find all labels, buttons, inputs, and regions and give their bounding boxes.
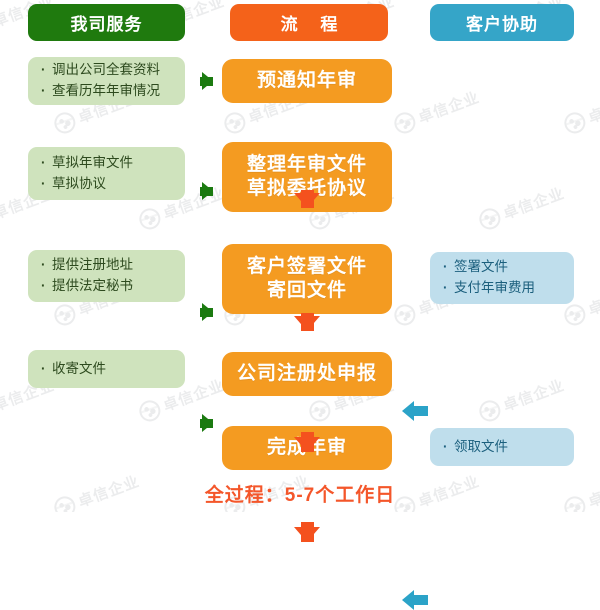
flowchart-canvas: 我司服务 流 程 客户协助 调出公司全套资料 查看历年年审情况 草拟年审文件 草… <box>0 0 600 512</box>
column-header-process: 流 程 <box>230 4 388 41</box>
arrow-left-blue-2 <box>402 590 414 610</box>
arrow-down-orange-4 <box>294 527 320 542</box>
column-header-our-service-label: 我司服务 <box>71 10 143 35</box>
arrow-down-orange-3 <box>294 437 320 452</box>
left-note-2-line-2: 草拟协议 <box>41 174 185 195</box>
footer-total-duration-label: 全过程：5-7个工作日 <box>0 480 600 507</box>
left-note-1-line-1: 调出公司全套资料 <box>41 60 185 81</box>
left-note-box-2: 草拟年审文件 草拟协议 <box>28 147 185 200</box>
process-step-1: 预通知年审 <box>222 59 392 103</box>
right-note-1-line-1: 签署文件 <box>443 257 574 278</box>
column-header-our-service: 我司服务 <box>28 4 185 41</box>
footer-total-duration: 全过程：5-7个工作日 <box>0 480 600 507</box>
process-step-3-line-2: 寄回文件 <box>267 279 347 303</box>
process-step-3: 客户签署文件 寄回文件 <box>222 244 392 314</box>
process-step-3-line-1: 客户签署文件 <box>247 255 367 279</box>
left-note-box-4: 收寄文件 <box>28 350 185 388</box>
process-step-4-line-1: 公司注册处申报 <box>237 362 377 386</box>
process-step-4: 公司注册处申报 <box>222 352 392 396</box>
left-note-2-line-1: 草拟年审文件 <box>41 153 185 174</box>
process-step-2-line-1: 整理年审文件 <box>247 153 367 177</box>
right-note-2-line-1: 领取文件 <box>443 437 574 458</box>
left-note-4-line-1: 收寄文件 <box>41 359 185 380</box>
right-note-box-1: 签署文件 支付年审费用 <box>430 252 574 304</box>
left-note-3-line-1: 提供注册地址 <box>41 255 185 276</box>
left-note-box-1: 调出公司全套资料 查看历年年审情况 <box>28 57 185 105</box>
arrow-right-green-4 <box>202 414 213 432</box>
right-note-box-2: 领取文件 <box>430 428 574 466</box>
process-step-1-line-1: 预通知年审 <box>257 69 357 93</box>
arrow-left-blue-1 <box>402 401 414 421</box>
right-note-1-line-2: 支付年审费用 <box>443 278 574 299</box>
column-header-client-assist-label: 客户协助 <box>466 10 538 35</box>
arrow-right-green-3 <box>202 303 213 321</box>
left-note-1-line-2: 查看历年年审情况 <box>41 81 185 102</box>
arrow-right-green-1 <box>202 72 213 90</box>
left-note-3-line-2: 提供法定秘书 <box>41 276 185 297</box>
arrow-down-orange-1 <box>294 193 320 208</box>
left-note-box-3: 提供注册地址 提供法定秘书 <box>28 250 185 302</box>
arrow-down-orange-2 <box>294 316 320 331</box>
arrow-right-green-2 <box>202 182 213 200</box>
column-header-client-assist: 客户协助 <box>430 4 574 41</box>
column-header-process-label: 流 程 <box>272 10 347 35</box>
